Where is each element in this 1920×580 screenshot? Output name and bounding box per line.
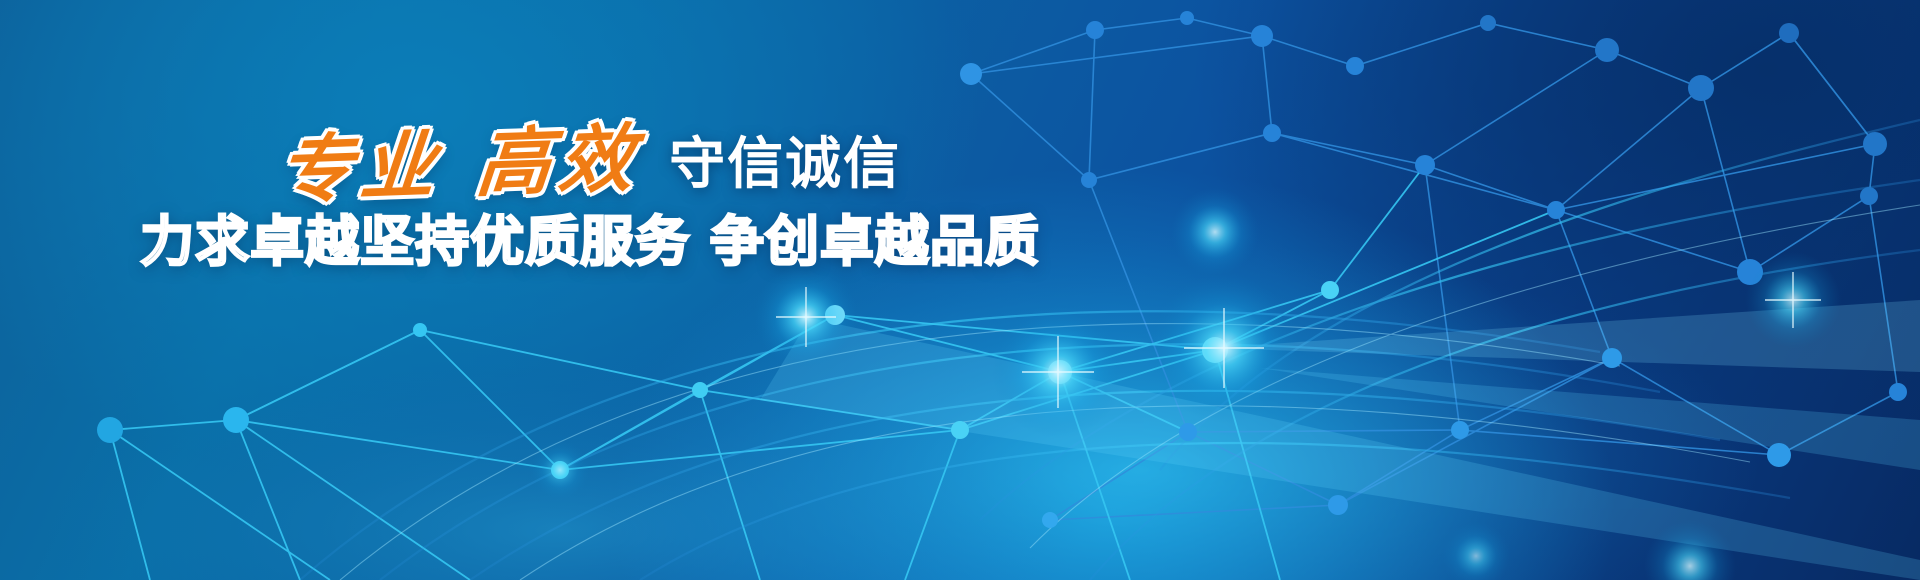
slogan-line-2: 力求卓越坚持优质服务 争创卓越品质 — [0, 214, 1180, 271]
slogan-line-1: 专业 高效 守信诚信 — [0, 128, 1180, 202]
slogan-orange-text: 专业 高效 — [275, 122, 645, 209]
hero-banner: 专业 高效 守信诚信 力求卓越坚持优质服务 争创卓越品质 — [0, 0, 1920, 580]
slogan-white-text: 守信诚信 — [669, 137, 901, 193]
network-mesh-graphic — [0, 0, 1920, 580]
slogan-block: 专业 高效 守信诚信 力求卓越坚持优质服务 争创卓越品质 — [0, 128, 1180, 271]
